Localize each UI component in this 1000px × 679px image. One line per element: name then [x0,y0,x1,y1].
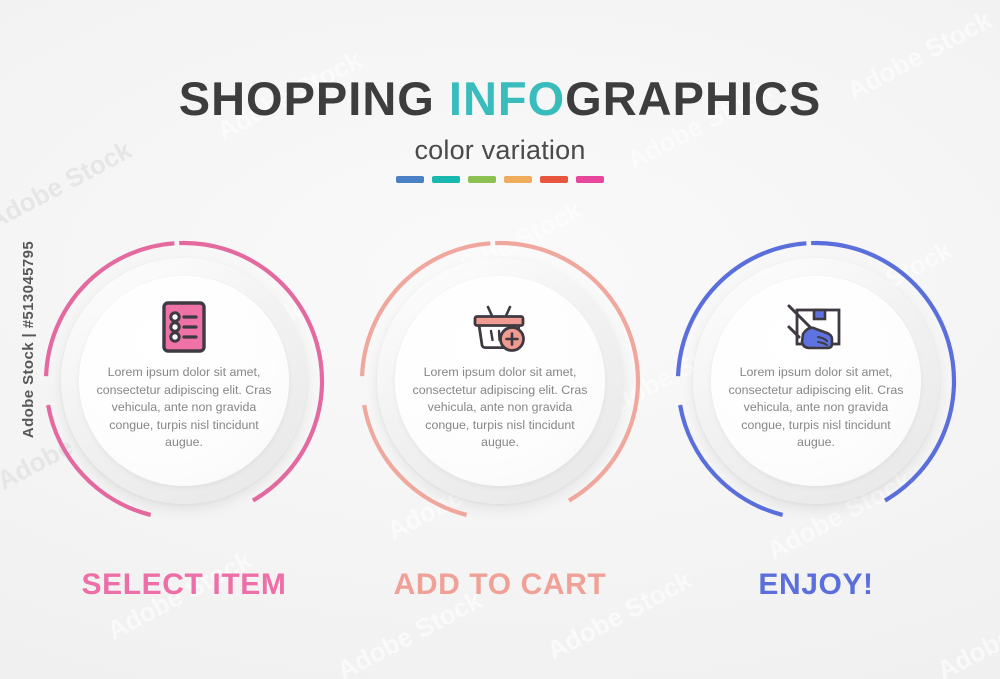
swatch-green [468,176,496,183]
page-subtitle: color variation [0,135,1000,166]
swatch-blue [396,176,424,183]
step-label-add-to-cart: ADD TO CART [394,568,607,602]
step-icon-add-to-cart [468,298,532,356]
step-card-select-item[interactable]: Lorem ipsum dolor sit amet, consectetur … [39,236,329,602]
step-circle-add-to-cart[interactable]: Lorem ipsum dolor sit amet, consectetur … [355,236,645,526]
infographic-canvas: Adobe Stock Adobe Stock Adobe Stock Adob… [0,0,1000,679]
step-icon-enjoy [785,298,847,356]
step-description: Lorem ipsum dolor sit amet, consectetur … [95,364,273,452]
step-circle-select-item[interactable]: Lorem ipsum dolor sit amet, consectetur … [39,236,329,526]
inner-disc: Lorem ipsum dolor sit amet, consectetur … [79,276,289,486]
inner-disc: Lorem ipsum dolor sit amet, consectetur … [395,276,605,486]
swatch-teal [432,176,460,183]
color-swatch-row [0,176,1000,183]
step-label-select-item: SELECT ITEM [82,568,287,602]
page-title: SHOPPING INFOGRAPHICS [0,74,1000,123]
title-part-1: SHOPPING [179,72,449,125]
swatch-orange [504,176,532,183]
step-card-add-to-cart[interactable]: Lorem ipsum dolor sit amet, consectetur … [355,236,645,602]
steps-row: Lorem ipsum dolor sit amet, consectetur … [0,236,1000,602]
step-icon-select-item [161,298,207,356]
checklist-icon [161,300,207,354]
title-accent: INFO [449,72,565,125]
step-description: Lorem ipsum dolor sit amet, consectetur … [411,364,589,452]
step-card-enjoy[interactable]: Lorem ipsum dolor sit amet, consectetur … [671,236,961,602]
shopping-basket-plus-icon [468,301,532,353]
swatch-red [540,176,568,183]
step-label-enjoy: ENJOY! [758,568,873,602]
step-circle-enjoy[interactable]: Lorem ipsum dolor sit amet, consectetur … [671,236,961,526]
title-part-2: GRAPHICS [565,72,821,125]
swatch-pink [576,176,604,183]
inner-disc: Lorem ipsum dolor sit amet, consectetur … [711,276,921,486]
hand-package-icon [785,300,847,354]
header: SHOPPING INFOGRAPHICS color variation [0,74,1000,183]
step-description: Lorem ipsum dolor sit amet, consectetur … [727,364,905,452]
